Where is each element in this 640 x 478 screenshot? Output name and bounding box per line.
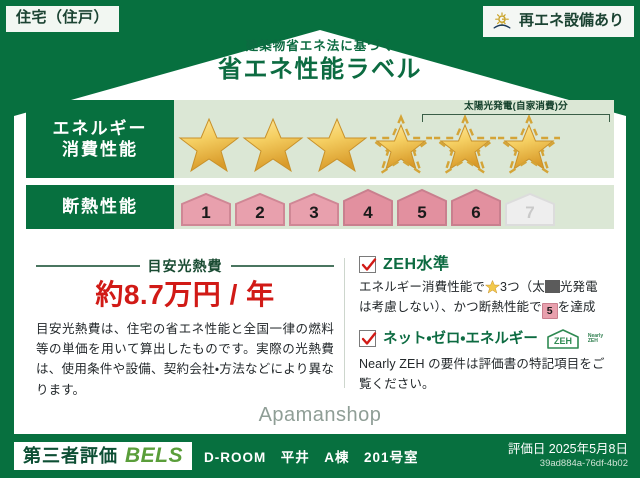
- insulation-chip-value: 5: [417, 203, 426, 223]
- utility-cost-block: 目安光熱費 約8.7万円 / 年 目安光熱費は、住宅の省エネ性能と全国一律の燃料…: [26, 250, 344, 396]
- insulation-chip-value: 7: [525, 203, 534, 223]
- bels-en-label: BELS: [125, 445, 183, 466]
- insulation-chips-panel: 1 2 3: [174, 185, 614, 229]
- utility-cost-heading-text: 目安光熱費: [148, 256, 223, 276]
- insulation-chip: 6: [450, 188, 502, 226]
- evaluation-date: 評価日 2025年5月8日: [508, 442, 628, 458]
- bels-badge: 第三者評価 BELS: [14, 442, 192, 470]
- zeh-standard-description: エネルギー消費性能で3つ（太光発電は考慮しない）、かつ断熱性能で5を達成: [359, 278, 606, 319]
- star-icon: [178, 114, 240, 174]
- star-icon-inline: [485, 279, 500, 294]
- insulation-level-chips: 1 2 3: [180, 188, 556, 226]
- insulation-chip: 1: [180, 192, 232, 226]
- property-name: D-ROOM 平井 A棟 201号室: [204, 446, 419, 466]
- performance-rows: エネルギー 消費性能: [26, 100, 614, 236]
- zeh-desc-part2: 3つ（太: [500, 280, 545, 294]
- svg-text:ZEH: ZEH: [554, 336, 572, 346]
- net-zero-energy-block: ネット・ゼロ・エネルギー ZEH Nearly ZEH Nearly ZEH の…: [359, 328, 606, 395]
- renewable-badge-label: 再エネ設備あり: [519, 13, 624, 30]
- utility-cost-value: 約8.7万円 / 年: [36, 280, 334, 311]
- star-icon: [306, 114, 368, 174]
- insulation-performance-label: 断熱性能: [26, 185, 174, 229]
- insulation-performance-row: 断熱性能 1 2: [26, 185, 614, 229]
- checkbox-checked-icon: [359, 330, 376, 347]
- rule-right: [231, 265, 335, 267]
- star-icon: [242, 114, 304, 174]
- net-zero-description: Nearly ZEH の要件は評価書の特記項目をご覧ください。: [359, 355, 606, 395]
- footer-bar: 第三者評価 BELS D-ROOM 平井 A棟 201号室 評価日 2025年5…: [0, 434, 640, 478]
- insulation-label-text: 断熱性能: [62, 196, 138, 217]
- energy-performance-label: エネルギー 消費性能: [26, 100, 174, 178]
- insulation-chip-value: 4: [363, 203, 372, 223]
- utility-cost-heading: 目安光熱費: [36, 256, 334, 276]
- rule-left: [36, 265, 140, 267]
- zeh-logo-sub-line2: ZEH: [588, 338, 598, 344]
- zeh-standard-title-row: ZEH水準: [359, 256, 606, 273]
- zeh-desc-part1: エネルギー消費性能で: [359, 280, 485, 294]
- insulation-chip-value: 1: [201, 203, 210, 223]
- zeh-block: ZEH水準 エネルギー消費性能で3つ（太光発電は考慮しない）、かつ断熱性能で5を…: [345, 250, 614, 396]
- net-zero-title: ネット・ゼロ・エネルギー: [383, 332, 538, 347]
- house-type-chip: 住宅（住戸）: [6, 6, 119, 32]
- energy-label-line2: 消費性能: [62, 139, 138, 160]
- insulation-chip: 3: [288, 192, 340, 226]
- utility-cost-note: 目安光熱費は、住宅の省エネ性能と全国一律の燃料等の単価を用いて算出したものです。…: [36, 319, 334, 400]
- insulation-chip-inactive: 7: [504, 192, 556, 226]
- zeh-house-logo-icon: ZEH: [545, 328, 581, 350]
- insulation-chip: 5: [396, 188, 448, 226]
- bels-jp-label: 第三者評価: [23, 447, 118, 465]
- insulation-chip: 2: [234, 192, 286, 226]
- energy-label-line1: エネルギー: [53, 118, 148, 139]
- sun-icon: [491, 10, 513, 32]
- zeh-desc-part4: を達成: [558, 300, 596, 314]
- insulation-chip: 4: [342, 188, 394, 226]
- checkbox-checked-icon: [359, 256, 376, 273]
- renewable-equipment-badge: 再エネ設備あり: [483, 6, 634, 37]
- star-icon-solar: [370, 114, 432, 174]
- evaluation-id: 39ad884a-76df-4b02: [508, 458, 628, 470]
- insulation-chip-value: 6: [471, 203, 480, 223]
- energy-performance-label: 住宅（住戸） 再エネ設備あり 建築物省エネ法に基づく 省エネ性能ラベル エネルギ…: [0, 0, 640, 478]
- zeh-logo-sub: Nearly ZEH: [588, 334, 603, 345]
- insulation-chip-value: 2: [255, 203, 264, 223]
- star-icon-solar: [434, 114, 496, 174]
- evaluation-info: 評価日 2025年5月8日 39ad884a-76df-4b02: [508, 442, 628, 471]
- lower-content: 目安光熱費 約8.7万円 / 年 目安光熱費は、住宅の省エネ性能と全国一律の燃料…: [26, 250, 614, 396]
- zeh-standard-block: ZEH水準 エネルギー消費性能で3つ（太光発電は考慮しない）、かつ断熱性能で5を…: [359, 256, 606, 319]
- star-icon-solar: [498, 114, 560, 174]
- energy-performance-row: エネルギー 消費性能: [26, 100, 614, 178]
- redacted-block-icon: [545, 280, 560, 293]
- zeh-standard-title: ZEH水準: [383, 257, 450, 273]
- star-rating: [178, 104, 560, 174]
- net-zero-title-row: ネット・ゼロ・エネルギー ZEH Nearly ZEH: [359, 328, 606, 350]
- insulation-level-inline-chip: 5: [542, 303, 558, 319]
- energy-stars-panel: 太陽光発電(自家消費)分: [174, 100, 614, 178]
- insulation-chip-value: 3: [309, 203, 318, 223]
